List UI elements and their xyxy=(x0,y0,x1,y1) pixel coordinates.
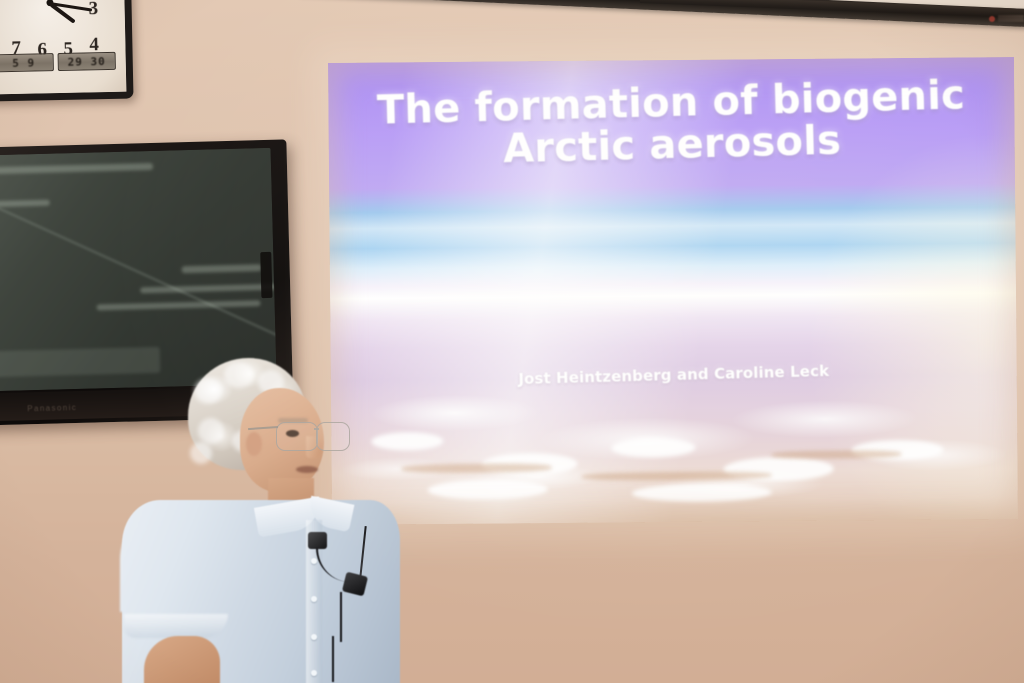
tv-reflection-panel-c xyxy=(97,300,261,310)
clock-lcd-left: 5 9 xyxy=(0,53,54,72)
shirt-button xyxy=(311,596,317,602)
hair-curl xyxy=(190,442,212,464)
lecture-room-photo: 3 4 5 6 7 8 5 9 29 30 Panasonic xyxy=(0,0,1024,683)
shirt-sleeve-cuff xyxy=(124,614,228,638)
wall-clock: 3 4 5 6 7 8 5 9 29 30 xyxy=(0,0,134,102)
shirt-button xyxy=(311,634,317,640)
ice-floe xyxy=(632,483,772,502)
ice-floe xyxy=(428,479,548,500)
tv-reflection-panel-a xyxy=(182,264,262,273)
shirt-button xyxy=(311,558,317,564)
glasses-bridge xyxy=(314,428,319,430)
clock-lcd-left-value: 5 9 xyxy=(12,56,35,69)
speaker xyxy=(110,352,410,683)
hair-curl xyxy=(194,378,222,404)
tv-brand-logo: Panasonic xyxy=(27,403,77,413)
shirt-button xyxy=(311,670,317,676)
clock-lcd-right: 29 30 xyxy=(58,52,116,71)
hair-curl xyxy=(198,418,224,444)
speaker-mouth xyxy=(296,466,318,473)
clock-lcd-right-value: 29 30 xyxy=(68,55,106,69)
tv-reflection-streak xyxy=(0,167,277,343)
rail-label-text xyxy=(998,15,1024,22)
tv-side-speaker xyxy=(260,252,272,298)
ice-lead-channel xyxy=(582,471,772,481)
red-indicator-light xyxy=(989,16,995,22)
slide-title: The formation of biogenic Arctic aerosol… xyxy=(328,73,1016,176)
projected-slide: The formation of biogenic Arctic aerosol… xyxy=(328,57,1018,525)
tv-reflection-panel-b xyxy=(140,284,276,294)
speaker-arm xyxy=(144,636,220,683)
tv-reflection-window xyxy=(0,200,50,208)
lapel-microphone xyxy=(308,532,327,549)
hair-curl xyxy=(224,362,254,388)
glasses-lens-left xyxy=(276,422,318,451)
ice-floe xyxy=(611,438,695,458)
glasses-lens-right xyxy=(316,422,350,451)
speaker-ear xyxy=(246,432,262,456)
tv-reflection-ceiling-lights xyxy=(0,163,153,175)
